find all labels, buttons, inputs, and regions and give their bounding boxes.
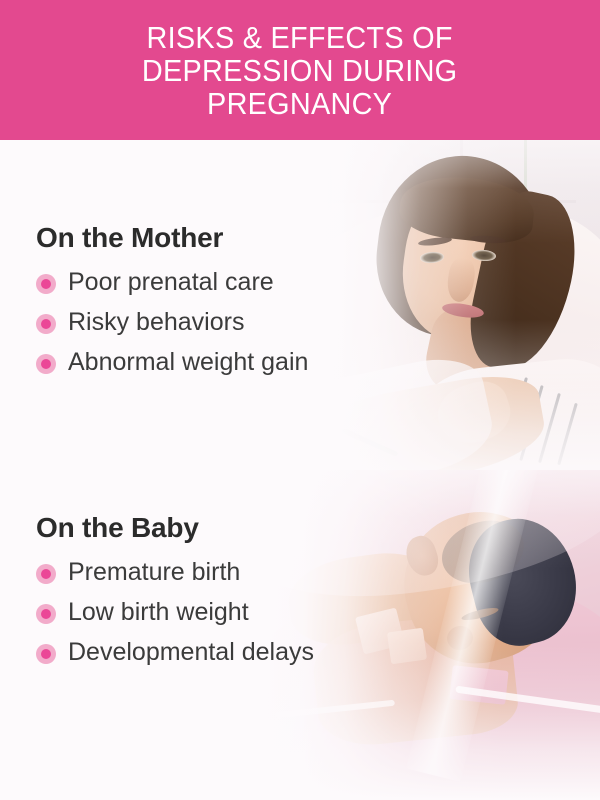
- bullet-dot-icon: [36, 644, 56, 664]
- list-item: Abnormal weight gain: [36, 348, 308, 377]
- list-item: Premature birth: [36, 558, 314, 587]
- bullet-label: Low birth weight: [68, 598, 249, 627]
- section-on-the-mother: On the Mother Poor prenatal care Risky b…: [36, 222, 308, 388]
- bullet-label: Risky behaviors: [68, 308, 244, 337]
- bullet-dot-icon: [36, 604, 56, 624]
- bullet-dot-icon: [36, 354, 56, 374]
- list-item: Poor prenatal care: [36, 268, 308, 297]
- section-title-mother: On the Mother: [36, 222, 308, 254]
- section-on-the-baby: On the Baby Premature birth Low birth we…: [36, 512, 314, 678]
- header-banner: RISKS & EFFECTS OF DEPRESSION DURING PRE…: [0, 0, 600, 140]
- bullet-label: Premature birth: [68, 558, 240, 587]
- bullet-list-baby: Premature birth Low birth weight Develop…: [36, 558, 314, 667]
- list-item: Low birth weight: [36, 598, 314, 627]
- list-item: Risky behaviors: [36, 308, 308, 337]
- bullet-dot-icon: [36, 564, 56, 584]
- page-title: RISKS & EFFECTS OF DEPRESSION DURING PRE…: [142, 21, 458, 120]
- list-item: Developmental delays: [36, 638, 314, 667]
- bullet-label: Abnormal weight gain: [68, 348, 308, 377]
- section-title-baby: On the Baby: [36, 512, 314, 544]
- bullet-list-mother: Poor prenatal care Risky behaviors Abnor…: [36, 268, 308, 377]
- bullet-dot-icon: [36, 274, 56, 294]
- bullet-dot-icon: [36, 314, 56, 334]
- infographic-poster: RISKS & EFFECTS OF DEPRESSION DURING PRE…: [0, 0, 600, 800]
- bullet-label: Developmental delays: [68, 638, 314, 667]
- bullet-label: Poor prenatal care: [68, 268, 274, 297]
